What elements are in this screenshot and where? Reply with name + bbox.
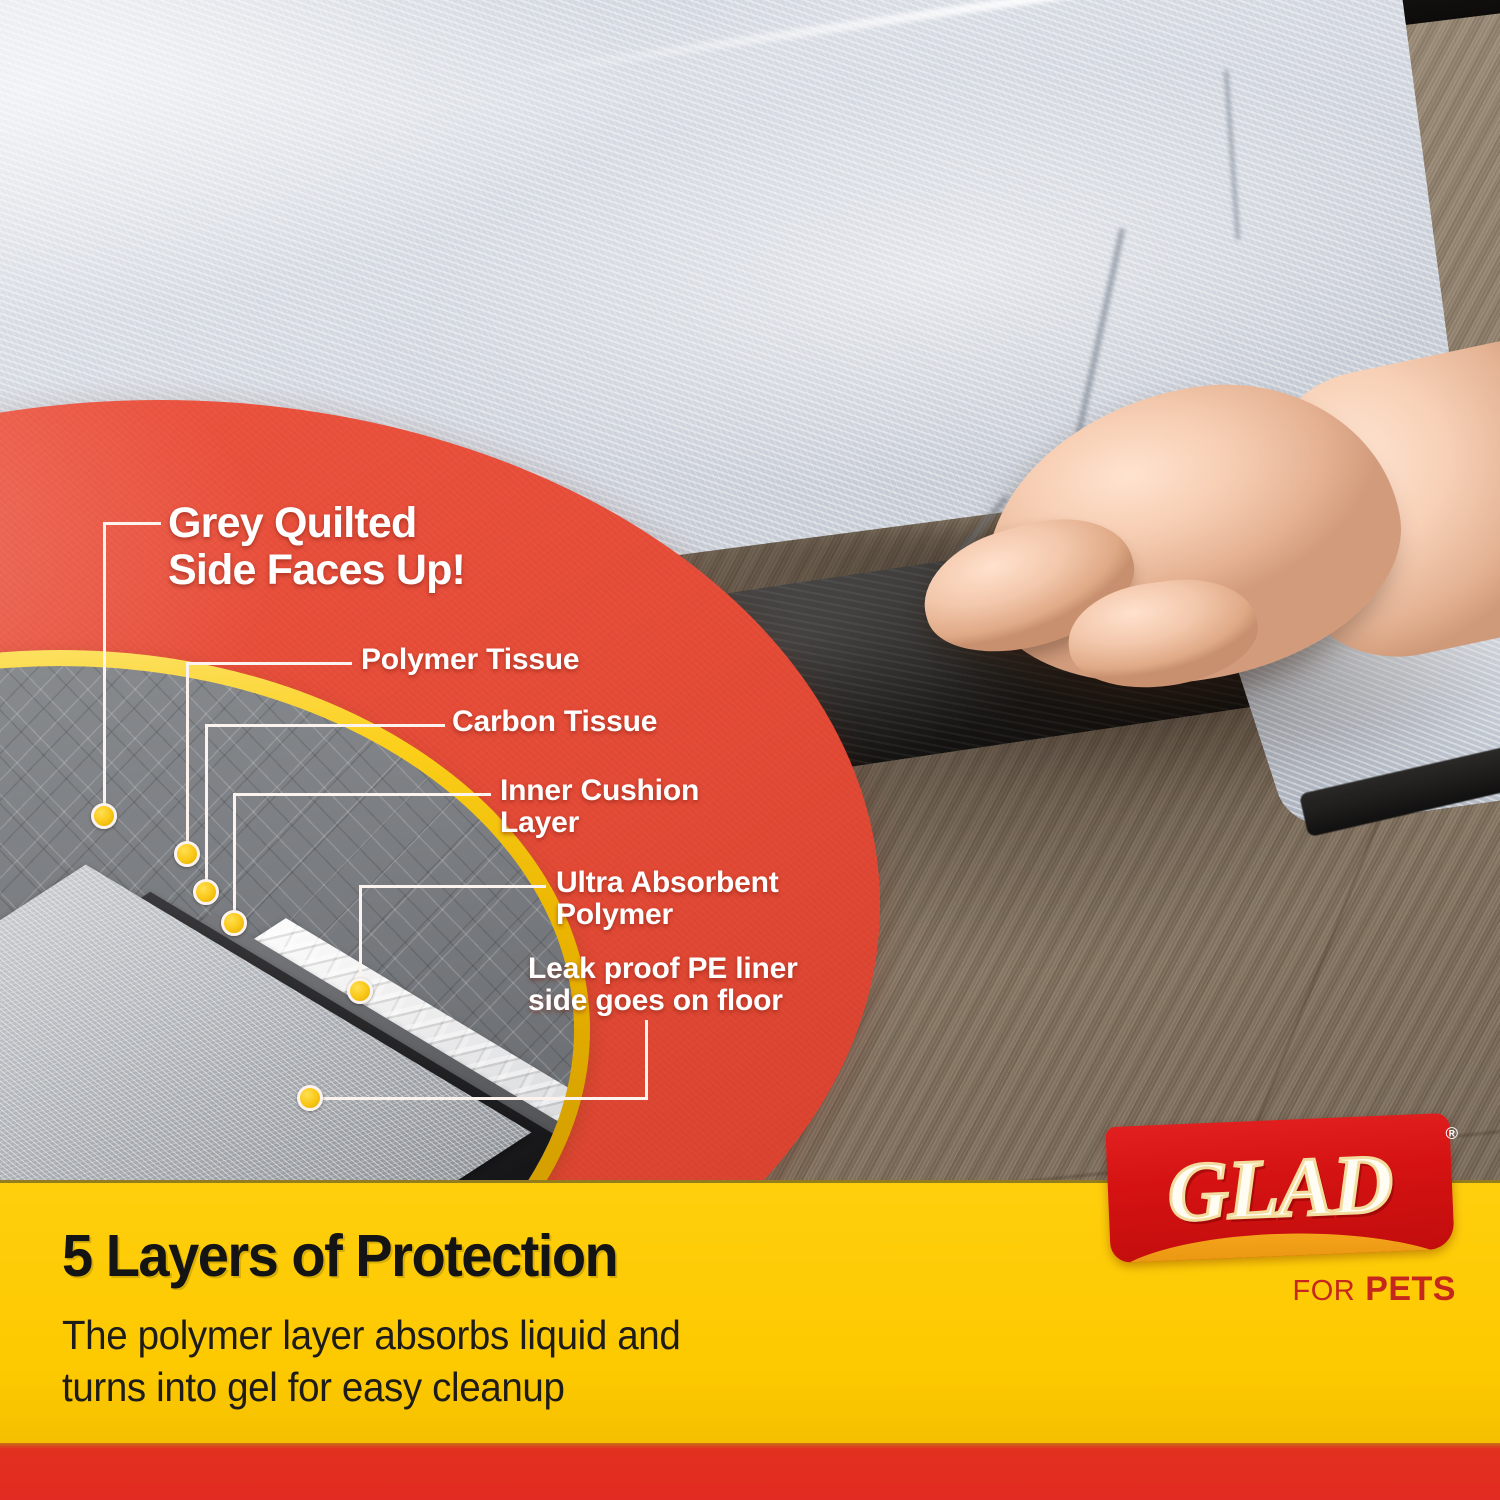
leader-line-ultra-absorbent-h (359, 885, 546, 888)
callout-label-carbon-tissue: Carbon Tissue (452, 706, 657, 738)
product-marketing-image: Grey Quilted Side Faces Up! Polymer Tiss… (0, 0, 1500, 1500)
leader-line-pe-liner-v (645, 1020, 648, 1100)
leader-line-pe-liner-h (316, 1097, 648, 1100)
callout-dot-pe-liner (297, 1085, 323, 1111)
callout-label-polymer-tissue: Polymer Tissue (361, 644, 579, 676)
leader-line-ultra-absorbent-v (359, 885, 362, 985)
hand (950, 330, 1500, 760)
logo-sub-for: FOR (1293, 1275, 1356, 1307)
brand-logo: GLAD ® FOR PETS (1108, 1120, 1468, 1320)
leader-line-polymer-tissue-v (186, 662, 189, 848)
callout-title: Grey Quilted Side Faces Up! (168, 500, 465, 594)
banner-subline: The polymer layer absorbs liquid and tur… (62, 1310, 814, 1413)
callout-label-ultra-absorbent: Ultra Absorbent Polymer (556, 867, 779, 932)
leader-line-grey-quilted-v (103, 522, 106, 810)
callout-label-inner-cushion: Inner Cushion Layer (500, 775, 699, 840)
leader-line-inner-cushion-h (233, 793, 491, 796)
callout-dot-grey-quilted (91, 803, 117, 829)
logo-sub-wordmark: FOR PETS (1293, 1270, 1456, 1309)
callout-dot-carbon-tissue (193, 879, 219, 905)
logo-wordmark: GLAD (1105, 1113, 1454, 1263)
registered-trademark-icon: ® (1445, 1124, 1458, 1144)
leader-line-polymer-tissue-h (186, 662, 352, 665)
callout-label-pe-liner: Leak proof PE liner side goes on floor (528, 953, 798, 1018)
logo-sub-pets: PETS (1365, 1270, 1456, 1308)
callout-dot-ultra-absorbent (347, 978, 373, 1004)
leader-line-grey-quilted-h (103, 522, 161, 525)
callout-dot-polymer-tissue (174, 841, 200, 867)
leader-line-inner-cushion-v (233, 793, 236, 917)
callout-dot-inner-cushion (221, 910, 247, 936)
banner-headline: 5 Layers of Protection (62, 1222, 617, 1290)
leader-line-carbon-tissue-v (205, 724, 208, 886)
leader-line-carbon-tissue-h (205, 724, 445, 727)
bottom-red-stripe (0, 1443, 1500, 1500)
